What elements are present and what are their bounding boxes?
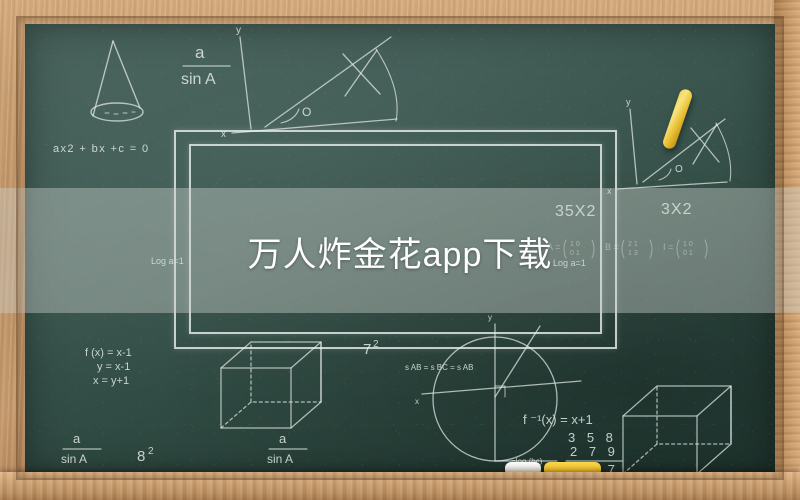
svg-text:3 5 8: 3 5 8 [568,430,617,445]
chalk-fraction3-sina: sin A [267,452,293,466]
chalk-inverse-fn: f ⁻¹(x) = x+1 [523,412,593,427]
chalk-power-8-exp: 2 [148,446,154,457]
chalk-fraction2-a: a [73,431,81,446]
chalk-angle-diagram-left [232,37,397,133]
chalk-cube-left [221,342,321,428]
chalk-fx-line3: x = y+1 [93,375,129,387]
chalk-axis-y-right-top: y [626,97,631,107]
chalk-fraction-a: a [195,43,205,62]
chalk-ledge [0,472,800,500]
chalk-axis-x-circle: x [415,397,419,406]
chalk-fx-line1: f (x) = x-1 [85,347,132,359]
chalk-fraction2-sina: sin A [61,452,87,466]
chalk-angle-label-right-top: O [675,164,683,175]
chalk-fraction-sina: sin A [181,71,216,88]
chalk-power-8: 8 [137,448,145,465]
svg-text:2 7 9: 2 7 9 [570,444,619,459]
chalk-quadratic-equation: ax2 + bx +c = 0 [53,143,150,155]
screenshot-root: a sin A y x O ax2 + bx +c = 0 f (x) = x-… [0,0,800,500]
page-title: 万人炸金花app下载 [0,225,800,277]
chalk-label-3x2: 3X2 [661,201,692,218]
chalk-fraction3-a: a [279,431,287,446]
chalk-axis-y-left: y [236,25,241,36]
chalk-cube-right [623,386,731,473]
chalk-angle-label-left: O [302,105,311,119]
chalk-fx-line2: y = x-1 [97,361,130,373]
chalk-cone [91,41,143,121]
